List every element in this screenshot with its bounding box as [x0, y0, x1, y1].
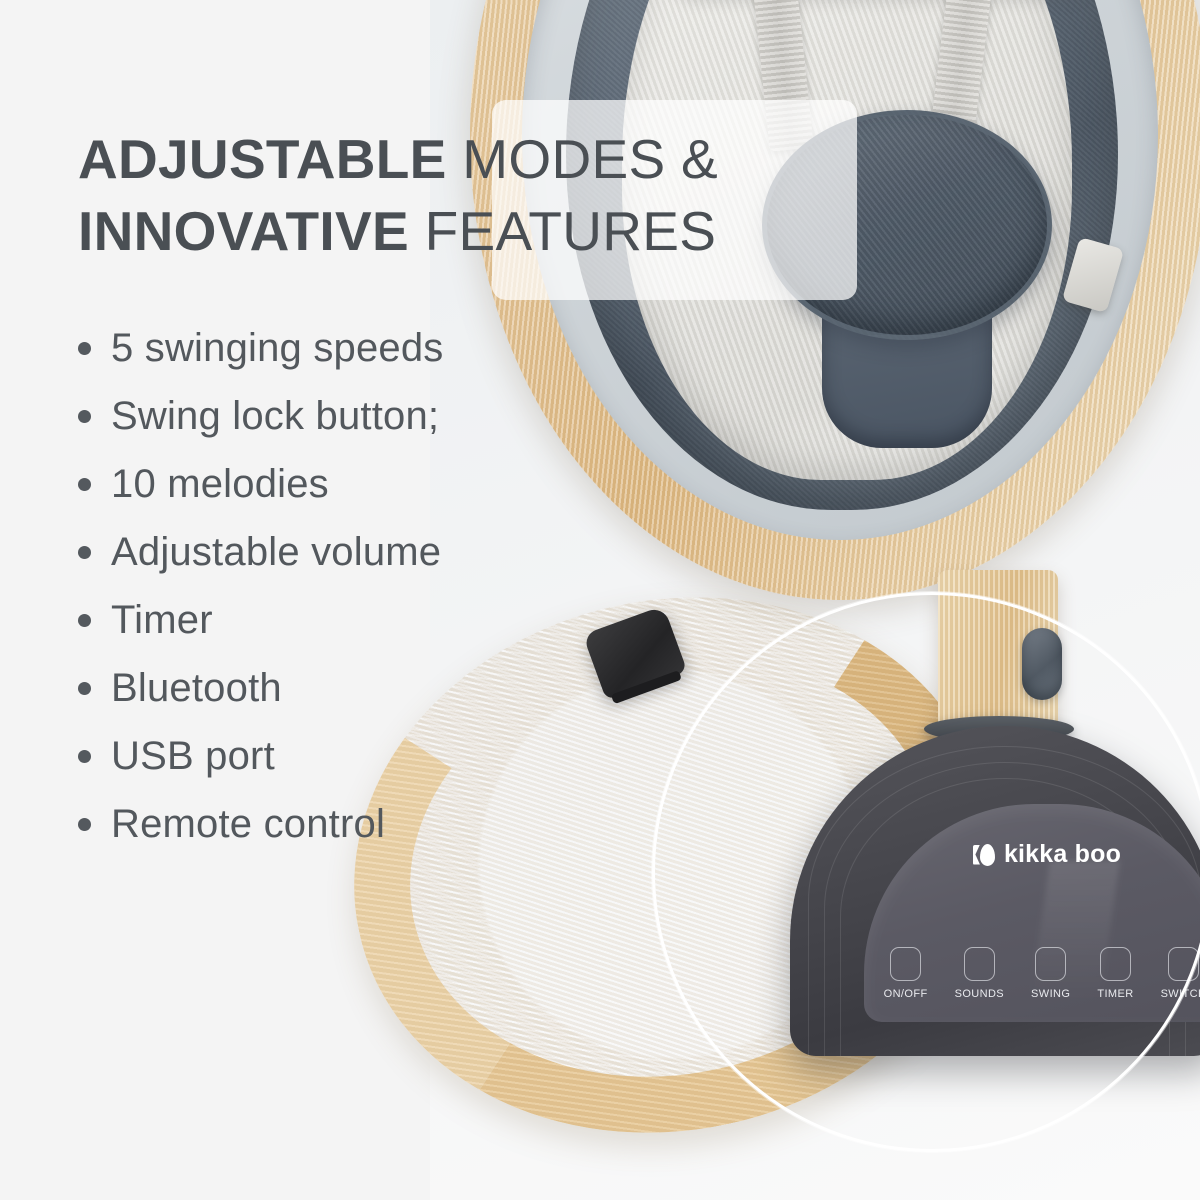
list-item: Timer — [78, 600, 598, 668]
control-label: SOUNDS — [955, 988, 1004, 1000]
headline-strong-2: INNOVATIVE — [78, 200, 409, 262]
brand-logo: kikka boo — [864, 840, 1200, 869]
list-item: Swing lock button; — [78, 396, 598, 464]
control-button-row: ON/OFF SOUNDS SWING TIMER — [864, 947, 1200, 1000]
control-key-icon — [1168, 947, 1199, 981]
list-item: USB port — [78, 736, 598, 804]
control-onoff[interactable]: ON/OFF — [884, 947, 928, 1000]
control-label: TIMER — [1097, 988, 1133, 1000]
control-key-icon — [890, 947, 921, 981]
bullet-icon — [78, 750, 91, 763]
control-key-icon — [964, 947, 995, 981]
feature-label: 5 swinging speeds — [111, 328, 444, 368]
feature-label: Swing lock button; — [111, 396, 439, 436]
control-sounds[interactable]: SOUNDS — [955, 947, 1004, 1000]
feature-list: 5 swinging speeds Swing lock button; 10 … — [78, 328, 598, 872]
bullet-icon — [78, 410, 91, 423]
control-label: ON/OFF — [884, 988, 928, 1000]
bullet-icon — [78, 682, 91, 695]
headline-light-2: FEATURES — [425, 200, 717, 262]
headline-strong-1: ADJUSTABLE — [78, 128, 447, 190]
bullet-icon — [78, 342, 91, 355]
bullet-icon — [78, 818, 91, 831]
headline-line-2: INNOVATIVE FEATURES — [78, 196, 888, 268]
bullet-icon — [78, 478, 91, 491]
headline-line-1: ADJUSTABLE MODES & — [78, 124, 888, 196]
control-swing[interactable]: SWING — [1031, 947, 1070, 1000]
swing-lock-button — [1022, 628, 1062, 700]
kikkaboo-logo-icon — [973, 844, 995, 866]
control-label: SWITCH — [1161, 988, 1200, 1000]
list-item: 5 swinging speeds — [78, 328, 598, 396]
feature-label: Bluetooth — [111, 668, 282, 708]
feature-label: Remote control — [111, 804, 385, 844]
list-item: Remote control — [78, 804, 598, 872]
control-switch[interactable]: SWITCH — [1161, 947, 1200, 1000]
list-item: Bluetooth — [78, 668, 598, 736]
bullet-icon — [78, 614, 91, 627]
headline-light-1: MODES & — [462, 128, 718, 190]
feature-label: USB port — [111, 736, 275, 776]
control-label: SWING — [1031, 988, 1070, 1000]
bullet-icon — [78, 546, 91, 559]
list-item: Adjustable volume — [78, 532, 598, 600]
brand-name: kikka boo — [1004, 840, 1121, 869]
control-key-icon — [1100, 947, 1131, 981]
list-item: 10 melodies — [78, 464, 598, 532]
feature-label: 10 melodies — [111, 464, 329, 504]
promo-image: kikka boo ON/OFF SOUNDS SWING — [0, 0, 1200, 1200]
headline: ADJUSTABLE MODES & INNOVATIVE FEATURES — [78, 124, 888, 267]
feature-label: Adjustable volume — [111, 532, 441, 572]
control-key-icon — [1035, 947, 1066, 981]
control-timer[interactable]: TIMER — [1097, 947, 1133, 1000]
feature-label: Timer — [111, 600, 213, 640]
